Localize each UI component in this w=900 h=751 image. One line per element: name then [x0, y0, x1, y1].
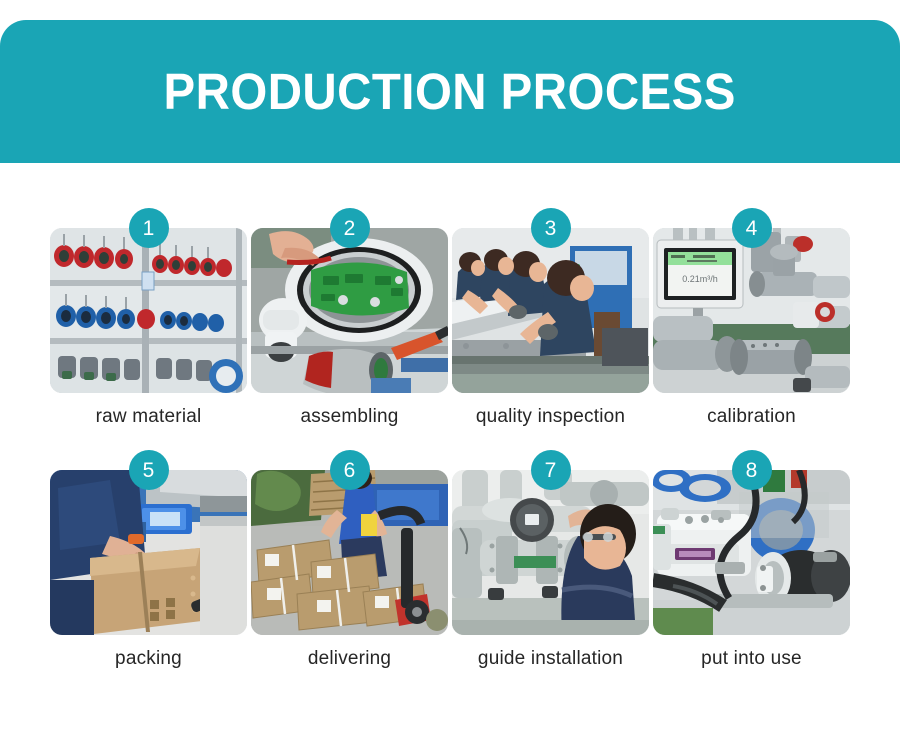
step-image-guide-installation [452, 470, 649, 635]
step-number-badge: 7 [531, 450, 571, 490]
thumbnail-wrapper[interactable]: 7 [452, 470, 649, 635]
page-header-banner: PRODUCTION PROCESS [0, 20, 900, 163]
process-step-card[interactable]: 7 guide installation [452, 450, 649, 671]
step-label: delivering [251, 647, 448, 671]
step-image-packing [50, 470, 247, 635]
step-number-badge: 1 [129, 208, 169, 248]
step-number-badge: 4 [732, 208, 772, 248]
process-step-card[interactable]: 0.21m³/h [653, 208, 850, 429]
step-number-badge: 6 [330, 450, 370, 490]
step-image-calibration: 0.21m³/h [653, 228, 850, 393]
step-image-raw-material [50, 228, 247, 393]
thumbnail-wrapper[interactable]: 3 [452, 228, 649, 393]
step-number-badge: 8 [732, 450, 772, 490]
thumbnail-wrapper[interactable]: 1 [50, 228, 247, 393]
step-image-quality-inspection [452, 228, 649, 393]
process-step-card[interactable]: 2 assembling [251, 208, 448, 429]
process-step-card[interactable]: 6 delivering [251, 450, 448, 671]
step-label: guide installation [452, 647, 649, 671]
process-step-card[interactable]: 1 raw material [50, 208, 247, 429]
step-label: packing [50, 647, 247, 671]
step-image-delivering [251, 470, 448, 635]
step-number-badge: 3 [531, 208, 571, 248]
process-step-card[interactable]: 8 put into use [653, 450, 850, 671]
process-steps-grid: 1 raw material [50, 208, 852, 671]
step-label: put into use [653, 647, 850, 671]
thumbnail-wrapper[interactable]: 2 [251, 228, 448, 393]
thumbnail-wrapper[interactable]: 8 [653, 470, 850, 635]
thumbnail-wrapper[interactable]: 0.21m³/h [653, 228, 850, 393]
step-number-badge: 5 [129, 450, 169, 490]
process-step-card[interactable]: 5 packing [50, 450, 247, 671]
thumbnail-wrapper[interactable]: 6 [251, 470, 448, 635]
step-label: calibration [653, 405, 850, 429]
step-label: assembling [251, 405, 448, 429]
svg-text:0.21m³/h: 0.21m³/h [682, 274, 718, 284]
process-step-card[interactable]: 3 quality inspection [452, 208, 649, 429]
step-label: quality inspection [452, 405, 649, 429]
step-label: raw material [50, 405, 247, 429]
step-number-badge: 2 [330, 208, 370, 248]
page-title: PRODUCTION PROCESS [164, 66, 736, 117]
step-image-put-into-use [653, 470, 850, 635]
thumbnail-wrapper[interactable]: 5 [50, 470, 247, 635]
step-image-assembling [251, 228, 448, 393]
